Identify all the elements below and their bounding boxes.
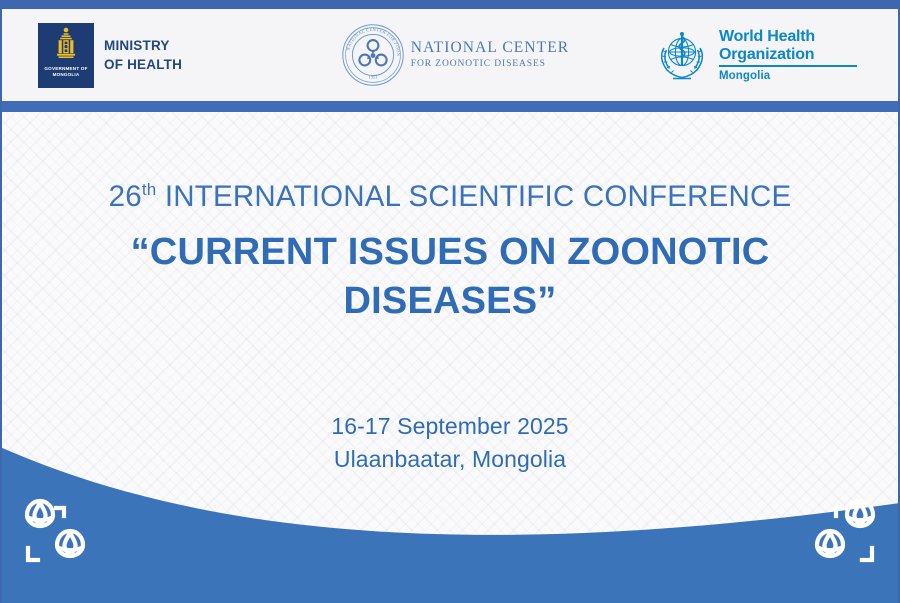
ministry-label-line2: OF HEALTH bbox=[104, 55, 182, 74]
emblem-caption: GOVERNMENT OF MONGOLIA bbox=[38, 66, 94, 77]
who-country-label: Mongolia bbox=[719, 70, 857, 82]
top-accent-rule bbox=[0, 0, 900, 9]
who-emblem-icon bbox=[653, 26, 711, 84]
national-center-label-line1: NATIONAL CENTER bbox=[411, 39, 569, 56]
bottom-wave-decoration bbox=[0, 443, 900, 603]
emblem-caption-line2: MONGOLIA bbox=[53, 72, 80, 77]
who-label: World Health Organization Mongolia bbox=[719, 28, 857, 81]
seal-year: 1951 bbox=[368, 75, 378, 80]
ministry-label: MINISTRY OF HEALTH bbox=[104, 36, 182, 74]
header-separator-rule bbox=[0, 101, 900, 112]
soyombo-emblem-icon bbox=[52, 26, 80, 66]
national-center-label: NATIONAL CENTER FOR ZOONOTIC DISEASES bbox=[411, 39, 569, 70]
left-edge-rule bbox=[0, 9, 2, 603]
ministry-of-health-logo: GOVERNMENT OF MONGOLIA MINISTRY OF HEALT… bbox=[0, 23, 300, 88]
who-underline bbox=[719, 65, 857, 67]
wave-primary bbox=[0, 447, 900, 603]
who-logo: World Health Organization Mongolia bbox=[610, 26, 900, 84]
who-label-line2: Organization bbox=[719, 46, 857, 63]
mongolia-state-emblem: GOVERNMENT OF MONGOLIA bbox=[38, 23, 94, 88]
conference-title-slide: GOVERNMENT OF MONGOLIA MINISTRY OF HEALT… bbox=[0, 0, 900, 603]
ulzii-knot-ornament-left bbox=[18, 492, 96, 575]
national-center-logo: NATIONAL CENTER FOR ZOONOTIC DISEASES 19… bbox=[300, 23, 610, 87]
conference-heading-text: INTERNATIONAL SCIENTIFIC CONFERENCE bbox=[156, 180, 791, 213]
conference-date: 16-17 September 2025 bbox=[0, 410, 900, 443]
ministry-label-line1: MINISTRY bbox=[104, 36, 182, 55]
national-center-label-line2: FOR ZOONOTIC DISEASES bbox=[411, 58, 569, 70]
ulzii-knot-ornament-right bbox=[804, 492, 882, 575]
logo-row: GOVERNMENT OF MONGOLIA MINISTRY OF HEALT… bbox=[0, 9, 900, 101]
conference-number: 26 bbox=[109, 180, 142, 213]
conference-theme: “CURRENT ISSUES ON ZOONOTIC DISEASES” bbox=[60, 228, 840, 325]
conference-heading: 26th INTERNATIONAL SCIENTIFIC CONFERENCE bbox=[0, 180, 900, 214]
who-label-line1: World Health bbox=[719, 28, 857, 45]
biohazard-seal-icon: NATIONAL CENTER FOR ZOONOTIC DISEASES 19… bbox=[341, 23, 405, 87]
conference-ordinal: th bbox=[142, 180, 157, 199]
emblem-caption-line1: GOVERNMENT OF bbox=[44, 66, 87, 71]
